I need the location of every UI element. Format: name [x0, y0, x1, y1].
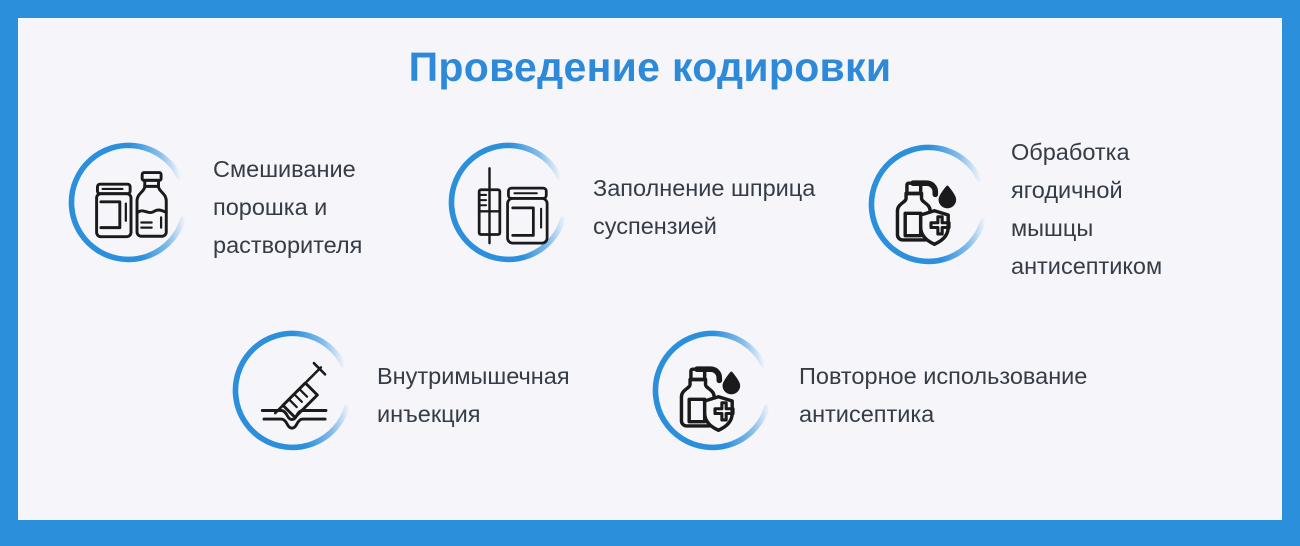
steps-row-top: Смешивание порошка и растворителя: [57, 133, 1247, 285]
steps-row-bottom: Внутримышечная инъекция: [221, 321, 1251, 469]
step-item-2[interactable]: Заполнение шприца суспензией: [437, 133, 857, 281]
step-5-badge: [641, 321, 789, 469]
step-item-5[interactable]: Повторное использование антисептика: [641, 321, 1111, 469]
intramuscular-injection-icon: [252, 352, 338, 438]
step-2-label: Заполнение шприца суспензией: [593, 169, 815, 245]
antiseptic-dispenser-icon: [672, 352, 758, 438]
infographic-poster: Проведение кодировки: [0, 0, 1300, 546]
step-4-label: Внутримышечная инъекция: [377, 357, 570, 433]
step-5-label: Повторное использование антисептика: [799, 357, 1087, 433]
poster-content-area: Проведение кодировки: [18, 18, 1282, 520]
antiseptic-dispenser-icon: [888, 166, 974, 252]
step-3-label: Обработка ягодичной мышцы антисептиком: [1011, 133, 1247, 285]
step-item-3[interactable]: Обработка ягодичной мышцы антисептиком: [857, 133, 1247, 285]
step-2-badge: [437, 133, 585, 281]
syringe-and-vial-icon: [468, 164, 554, 250]
step-1-label: Смешивание порошка и растворителя: [213, 150, 362, 264]
step-item-1[interactable]: Смешивание порошка и растворителя: [57, 133, 437, 281]
step-1-badge: [57, 133, 205, 281]
step-3-badge: [857, 135, 1005, 283]
page-title: Проведение кодировки: [18, 44, 1282, 91]
step-4-badge: [221, 321, 369, 469]
vial-and-bottle-icon: [88, 164, 174, 250]
step-item-4[interactable]: Внутримышечная инъекция: [221, 321, 641, 469]
